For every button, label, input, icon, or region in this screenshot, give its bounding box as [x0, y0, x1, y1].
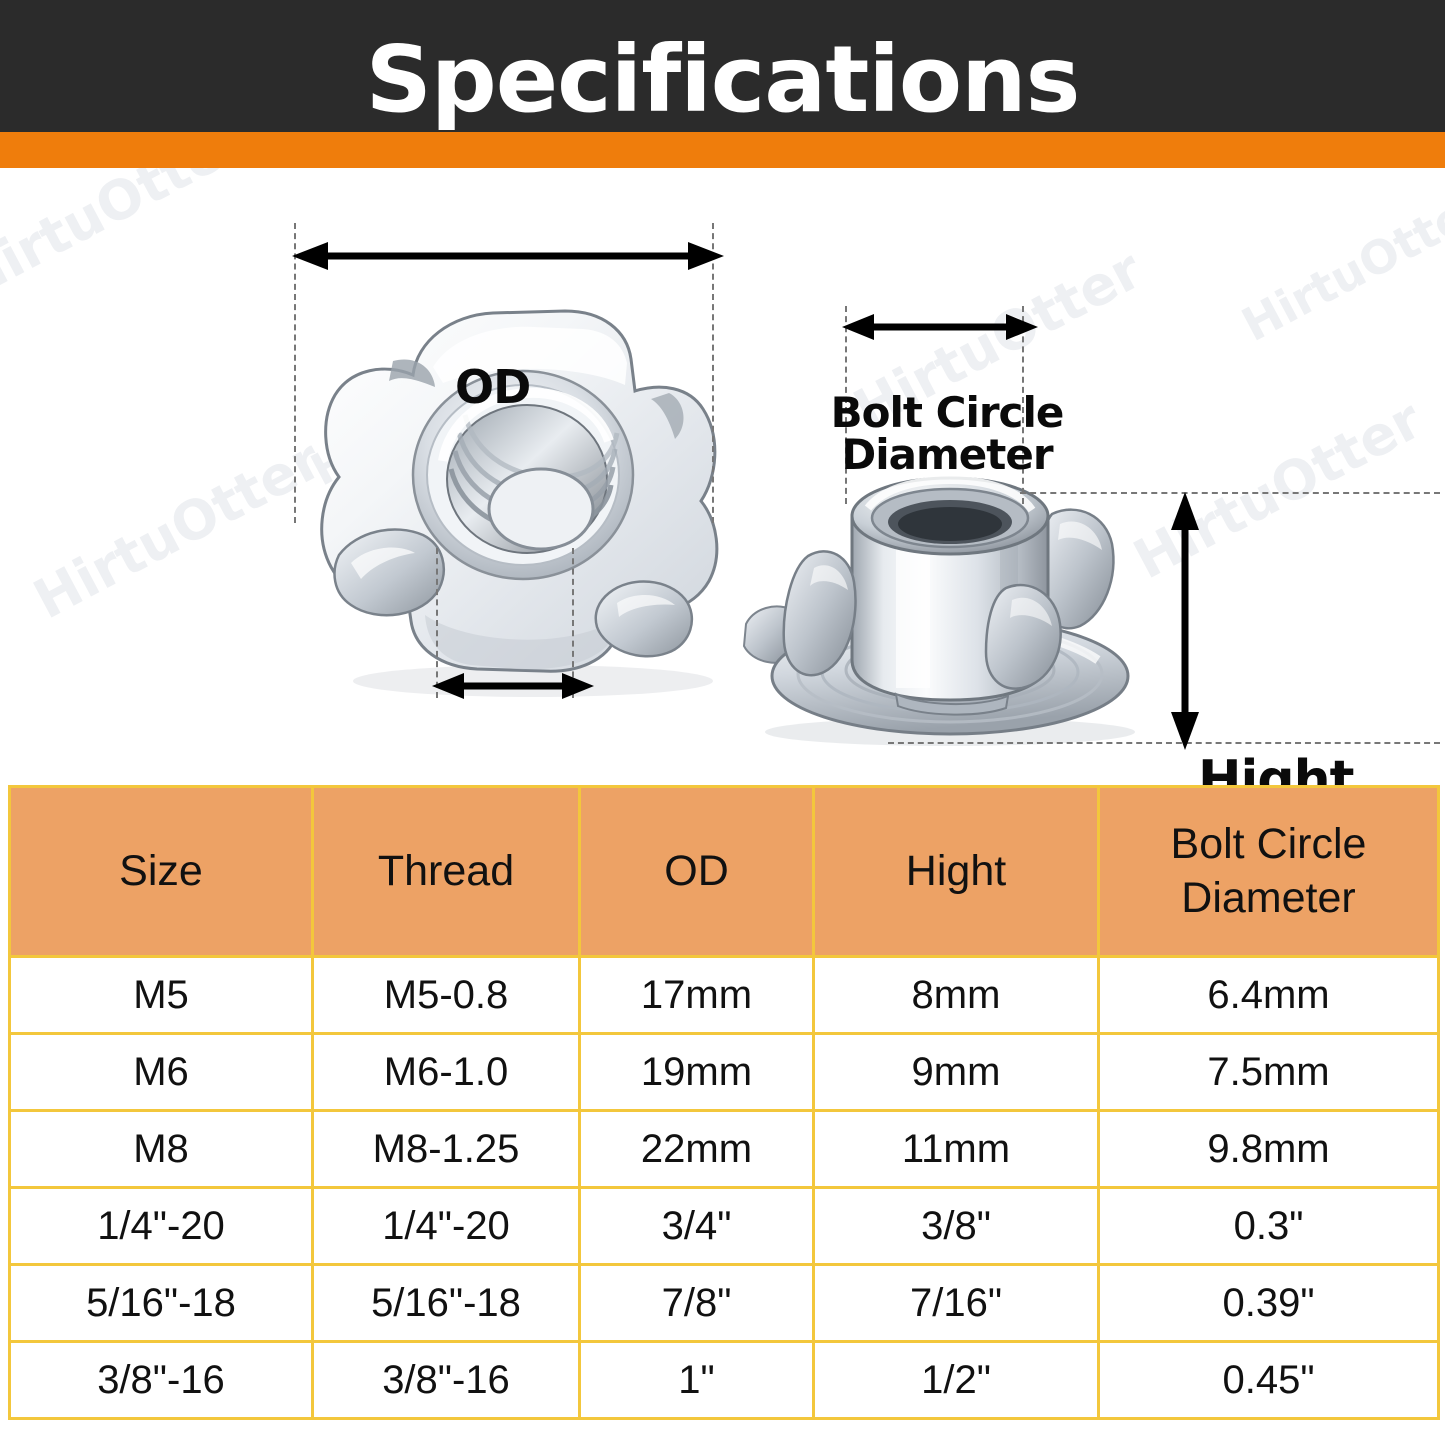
cell-hight: 11mm: [814, 1111, 1099, 1188]
bcd-header-line2: Diameter: [1181, 874, 1355, 922]
cell-od: 7/8": [580, 1265, 814, 1342]
cell-od: 3/4": [580, 1188, 814, 1265]
bolt-circle-diameter-label: Bolt Circle Diameter: [812, 392, 1082, 476]
cell-hight: 9mm: [814, 1034, 1099, 1111]
table-row: 3/8"-16 3/8"-16 1" 1/2" 0.45": [10, 1342, 1439, 1419]
cell-od: 17mm: [580, 957, 814, 1034]
cell-size: M8: [10, 1111, 313, 1188]
cell-thread: 5/16"-18: [313, 1265, 580, 1342]
table-row: M6 M6-1.0 19mm 9mm 7.5mm: [10, 1034, 1439, 1111]
cell-size: M6: [10, 1034, 313, 1111]
od-dimension-arrow: [288, 236, 728, 276]
column-header-thread: Thread: [313, 787, 580, 957]
cell-bcd: 0.39": [1099, 1265, 1439, 1342]
cell-bcd: 0.45": [1099, 1342, 1439, 1419]
thread-dimension-arrow: [430, 668, 596, 704]
cell-od: 19mm: [580, 1034, 814, 1111]
cell-thread: M5-0.8: [313, 957, 580, 1034]
table-row: M8 M8-1.25 22mm 11mm 9.8mm: [10, 1111, 1439, 1188]
specification-page: Specifications HirtuOtter HirtuOtter Hir…: [0, 0, 1445, 1445]
specifications-table: Size Thread OD Hight Bolt Circle Diamete…: [8, 785, 1440, 1420]
cell-size: 5/16"-18: [10, 1265, 313, 1342]
column-header-size: Size: [10, 787, 313, 957]
cell-od: 22mm: [580, 1111, 814, 1188]
table-row: 5/16"-18 5/16"-18 7/8" 7/16" 0.39": [10, 1265, 1439, 1342]
cell-thread: 3/8"-16: [313, 1342, 580, 1419]
hight-label: Hight: [1198, 754, 1353, 785]
cell-size: 3/8"-16: [10, 1342, 313, 1419]
cell-bcd: 0.3": [1099, 1188, 1439, 1265]
cell-size: 1/4"-20: [10, 1188, 313, 1265]
table-row: M5 M5-0.8 17mm 8mm 6.4mm: [10, 957, 1439, 1034]
dimension-diagram: HirtuOtter HirtuOtter HirtuOtter HirtuOt…: [0, 168, 1445, 785]
bcd-label-line2: Diameter: [841, 430, 1052, 479]
cell-bcd: 6.4mm: [1099, 957, 1439, 1034]
cell-thread: 1/4"-20: [313, 1188, 580, 1265]
cell-thread: M8-1.25: [313, 1111, 580, 1188]
od-label: OD: [455, 364, 530, 410]
cell-od: 1": [580, 1342, 814, 1419]
cell-hight: 7/16": [814, 1265, 1099, 1342]
table-body: M5 M5-0.8 17mm 8mm 6.4mm M6 M6-1.0 19mm …: [10, 957, 1439, 1419]
bcd-header-line1: Bolt Circle: [1171, 820, 1367, 868]
page-title: Specifications: [0, 34, 1445, 132]
cell-hight: 1/2": [814, 1342, 1099, 1419]
cell-thread: M6-1.0: [313, 1034, 580, 1111]
column-header-bolt-circle-diameter: Bolt Circle Diameter: [1099, 787, 1439, 957]
cell-size: M5: [10, 957, 313, 1034]
table-row: 1/4"-20 1/4"-20 3/4" 3/8" 0.3": [10, 1188, 1439, 1265]
cell-bcd: 7.5mm: [1099, 1034, 1439, 1111]
cell-hight: 8mm: [814, 957, 1099, 1034]
cell-hight: 3/8": [814, 1188, 1099, 1265]
hight-guide-top: [1020, 492, 1440, 494]
cell-bcd: 9.8mm: [1099, 1111, 1439, 1188]
column-header-od: OD: [580, 787, 814, 957]
column-header-hight: Hight: [814, 787, 1099, 957]
watermark: HirtuOtter: [1233, 178, 1445, 352]
header-accent-stripe: [0, 132, 1445, 168]
table-header-row: Size Thread OD Hight Bolt Circle Diamete…: [10, 787, 1439, 957]
watermark: HirtuOtter: [0, 168, 257, 311]
bolt-circle-diameter-arrow: [840, 310, 1040, 344]
hight-dimension-arrow: [1162, 490, 1208, 752]
